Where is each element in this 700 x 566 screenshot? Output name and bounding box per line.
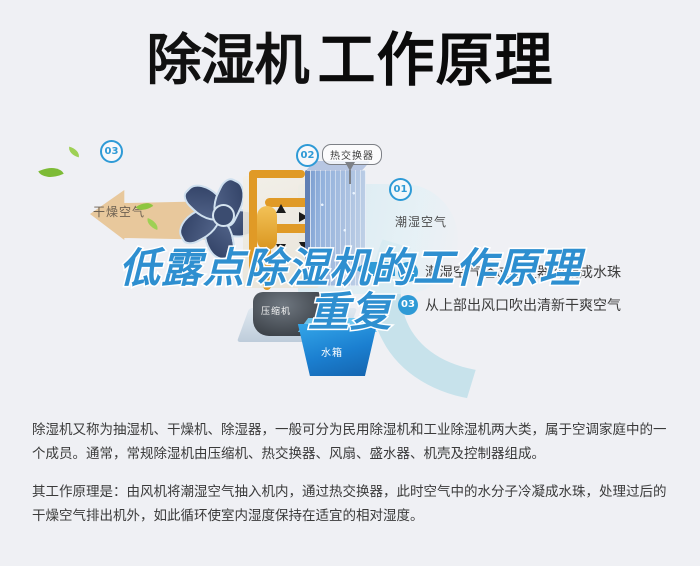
receiver-tank-icon bbox=[257, 206, 277, 250]
moist-air-label: 潮湿空气 bbox=[395, 213, 447, 230]
step-number-badge: 02 bbox=[398, 262, 418, 282]
refrigerant-pipe-icon bbox=[249, 170, 257, 274]
body-paragraph-2: 其工作原理是：由风机将潮湿空气抽入机内，通过热交换器，此时空气中的水分子冷凝成水… bbox=[32, 480, 672, 528]
water-tank-label: 水箱 bbox=[321, 344, 343, 359]
article-body: 除湿机又称为抽湿机、干燥机、除湿器，一般可分为民用除湿机和工业除湿机两大类，属于… bbox=[32, 418, 672, 528]
flow-arrow-up-icon bbox=[276, 204, 286, 213]
list-item: 02 潮湿空气经过蒸发器冷凝成水珠 bbox=[398, 255, 698, 288]
body-paragraph-1: 除湿机又称为抽湿机、干燥机、除湿器，一般可分为民用除湿机和工业除湿机两大类，属于… bbox=[32, 418, 672, 466]
compressor-label: 压缩机 bbox=[261, 304, 291, 317]
machine-cabinet: 压缩机 水箱 bbox=[243, 158, 379, 348]
callout-badge-02: 02 bbox=[296, 144, 319, 167]
page-title: 除湿机 工作原理 bbox=[0, 20, 700, 100]
process-step-list: 02 潮湿空气经过蒸发器冷凝成水珠 03 从上部出风口吹出清新干爽空气 bbox=[398, 255, 698, 321]
flow-arrow-down-icon bbox=[276, 244, 286, 253]
title-part-two: 工作原理 bbox=[318, 31, 554, 89]
step-text: 从上部出风口吹出清新干爽空气 bbox=[425, 295, 621, 315]
infographic-page: 除湿机 工作原理 干燥空气 03 bbox=[0, 0, 700, 566]
callout-badge-03: 03 bbox=[100, 140, 123, 163]
list-item: 03 从上部出风口吹出清新干爽空气 bbox=[398, 288, 698, 321]
title-part-one: 除湿机 bbox=[146, 33, 308, 88]
callout-badge-01: 01 bbox=[389, 178, 412, 201]
fan-hub-icon bbox=[212, 204, 235, 227]
step-text: 潮湿空气经过蒸发器冷凝成水珠 bbox=[425, 262, 621, 282]
refrigerant-pipe-icon bbox=[249, 170, 305, 178]
callout-bubble-stem bbox=[349, 170, 351, 184]
step-number-badge: 03 bbox=[398, 295, 418, 315]
refrigerant-pipe-icon bbox=[263, 246, 271, 290]
